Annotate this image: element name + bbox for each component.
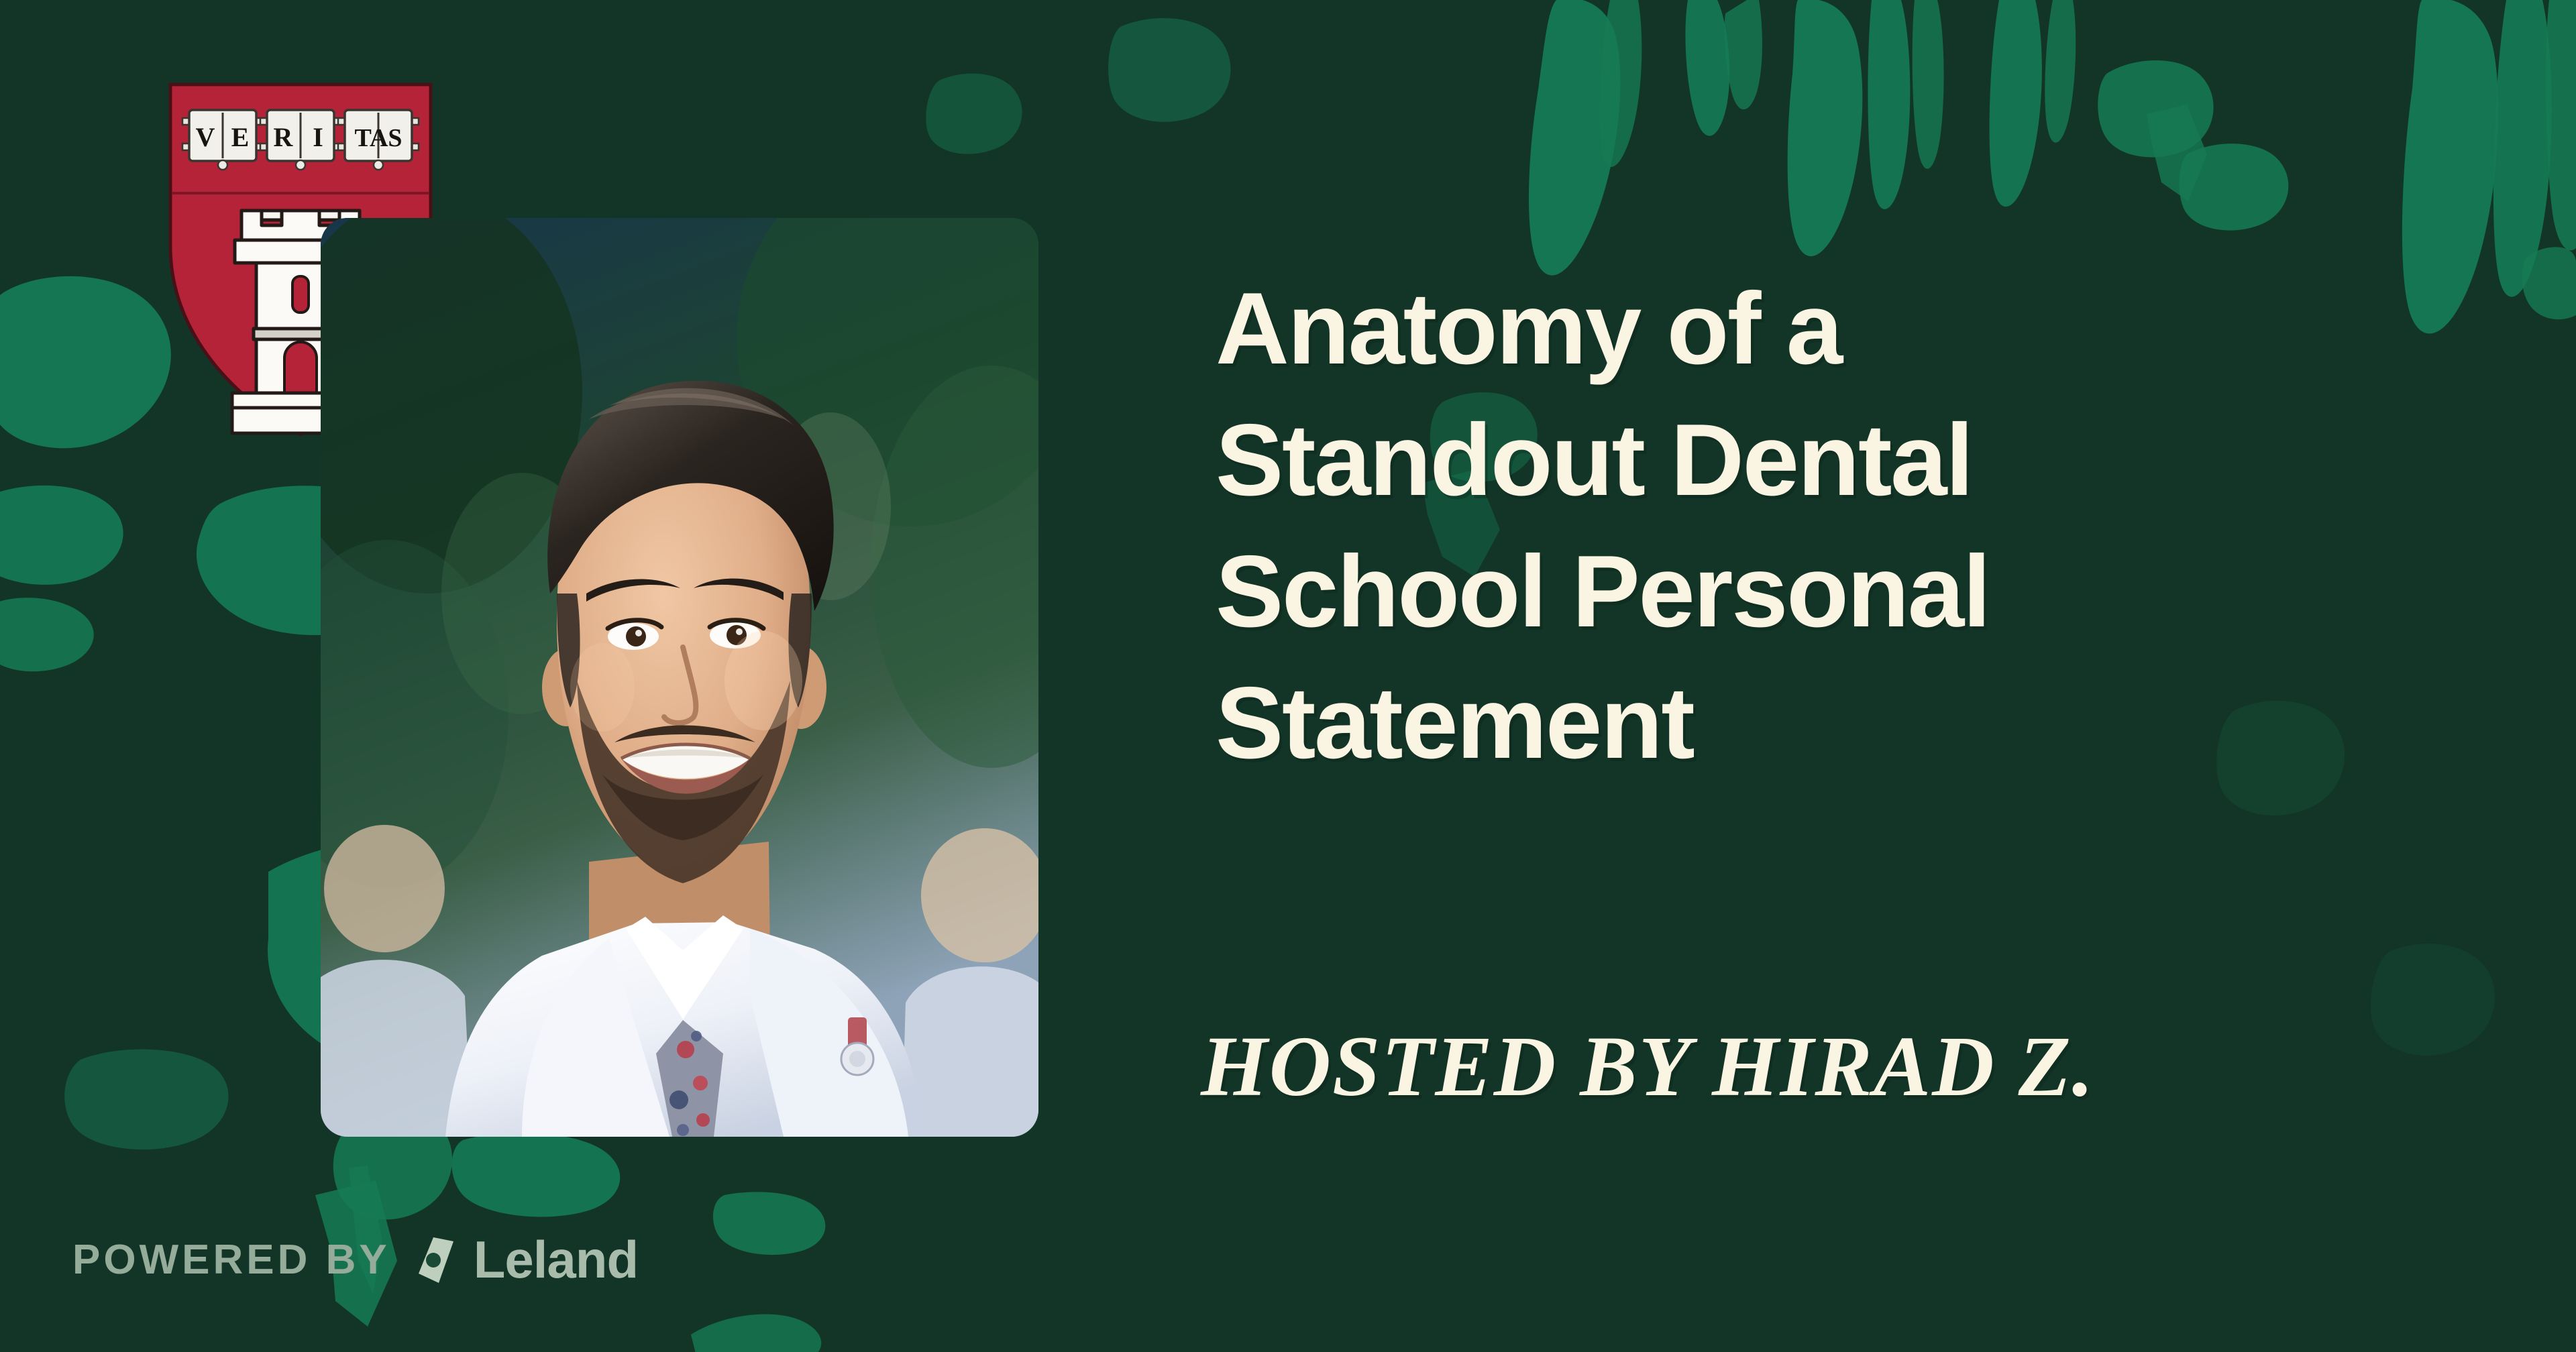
page-title: Anatomy of a Standout Dental School Pers… <box>1216 263 2510 789</box>
leland-brand-name: Leland <box>474 1229 638 1290</box>
footer-powered-by: POWERED BY Leland <box>72 1229 638 1290</box>
veritas-book-ve: V E <box>182 110 263 170</box>
svg-text:E: E <box>231 122 250 152</box>
svg-text:R: R <box>274 122 294 152</box>
host-byline: HOSTED BY HIRAD Z. <box>1201 1016 2095 1117</box>
title-line-1: Anatomy of a <box>1216 263 2510 394</box>
leland-diamond-icon <box>408 1232 464 1288</box>
promo-banner: V E R I <box>0 0 2576 1352</box>
title-line-3: School Personal <box>1216 526 2510 657</box>
leland-logo: Leland <box>408 1229 638 1290</box>
svg-text:I: I <box>313 122 323 152</box>
title-line-2: Standout Dental <box>1216 394 2510 526</box>
speaker-headshot-photo <box>321 218 1038 1137</box>
title-line-4: Statement <box>1216 657 2510 789</box>
powered-by-label: POWERED BY <box>72 1236 390 1284</box>
veritas-book-tas: TAS <box>338 110 419 170</box>
svg-text:V: V <box>196 122 215 152</box>
veritas-book-ri: R I <box>260 110 341 170</box>
svg-text:TAS: TAS <box>354 124 402 152</box>
